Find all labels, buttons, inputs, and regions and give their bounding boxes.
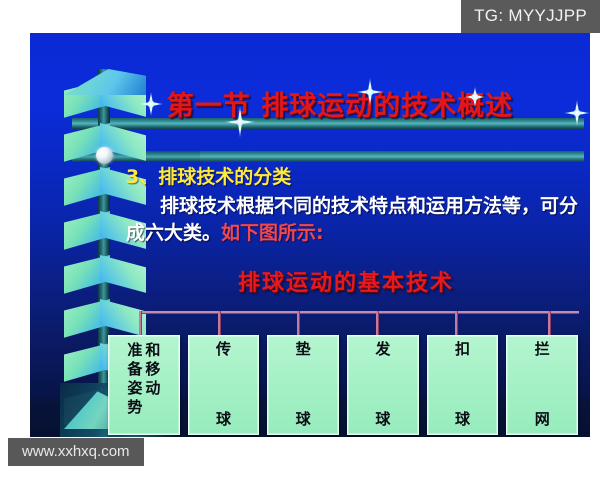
section-paragraph: 排球技术根据不同的技术特点和运用方法等，可分成六大类。如下图所示: — [126, 193, 590, 247]
node-char: 扣 — [455, 341, 470, 358]
tg-watermark-badge: TG: MYYJJPP — [461, 0, 600, 33]
screenshot-root: 第一节 排球运动的技术概述 3、排球技术的分类 排球技术根据不同的技术特点和运用… — [0, 0, 600, 480]
diagram-trunk-line — [139, 311, 579, 313]
diagram-node: 扣 球 — [427, 335, 499, 435]
node-char: 发 — [375, 341, 390, 358]
paragraph-text: 排球技术根据不同的技术特点和运用方法等，可分成六大类。 — [126, 195, 578, 244]
paragraph-accent-text: 如下图所示: — [221, 222, 324, 244]
diagram-node: 垫 球 — [267, 335, 339, 435]
node-char: 网 — [535, 411, 550, 428]
slide-title-row: 第一节 排球运动的技术概述 — [100, 81, 580, 125]
diagram-drop-line — [139, 311, 141, 335]
diagram-drop-line — [218, 311, 220, 335]
diagram-drop-line — [548, 311, 550, 335]
section-heading-line: 3、排球技术的分类 — [126, 164, 590, 191]
node-char: 准 — [127, 341, 142, 360]
decorative-bead-node — [96, 147, 113, 164]
diagram-node: 拦 网 — [506, 335, 578, 435]
chart-title: 排球运动的基本技术 — [126, 265, 566, 297]
diagram-node-column: 扣 球 — [455, 341, 470, 428]
diagram-node-column: 垫 球 — [296, 341, 311, 428]
technique-hierarchy-diagram: 准 备 姿 势 和 移 动 传 球 — [108, 311, 578, 437]
diagram-drop-line — [455, 311, 457, 335]
diagram-node-column: 和 移 动 — [145, 341, 160, 428]
diagram-drop-line — [297, 311, 299, 335]
slide-body: 3、排球技术的分类 排球技术根据不同的技术特点和运用方法等，可分成六大类。如下图… — [126, 164, 590, 247]
node-char: 垫 — [296, 341, 311, 358]
node-char: 移 — [145, 360, 160, 379]
node-char: 球 — [216, 411, 231, 428]
node-char: 动 — [145, 379, 160, 398]
node-char: 和 — [145, 341, 160, 360]
diagram-node: 传 球 — [188, 335, 260, 435]
site-watermark-badge: www.xxhxq.com — [8, 438, 144, 466]
diagram-node-row: 准 备 姿 势 和 移 动 传 球 — [108, 335, 578, 437]
diagram-node-column: 传 球 — [216, 341, 231, 428]
diagram-node: 准 备 姿 势 和 移 动 — [108, 335, 180, 435]
presentation-slide: 第一节 排球运动的技术概述 3、排球技术的分类 排球技术根据不同的技术特点和运用… — [30, 33, 590, 437]
diagram-node-column: 准 备 姿 势 — [127, 341, 142, 428]
node-char: 球 — [375, 411, 390, 428]
node-char: 球 — [455, 411, 470, 428]
node-char: 备 — [127, 360, 142, 379]
node-char: 球 — [296, 411, 311, 428]
node-char: 势 — [127, 398, 142, 417]
section-number: 3、 — [126, 166, 158, 188]
diagram-drop-line — [376, 311, 378, 335]
diagram-node-column: 发 球 — [375, 341, 390, 428]
diagram-node-column: 拦 网 — [535, 341, 550, 428]
diagram-node: 发 球 — [347, 335, 419, 435]
node-char: 传 — [216, 341, 231, 358]
slide-title: 第一节 排球运动的技术概述 — [167, 84, 513, 123]
section-heading: 排球技术的分类 — [158, 166, 291, 188]
node-char: 拦 — [535, 341, 550, 358]
node-char: 姿 — [127, 379, 142, 398]
